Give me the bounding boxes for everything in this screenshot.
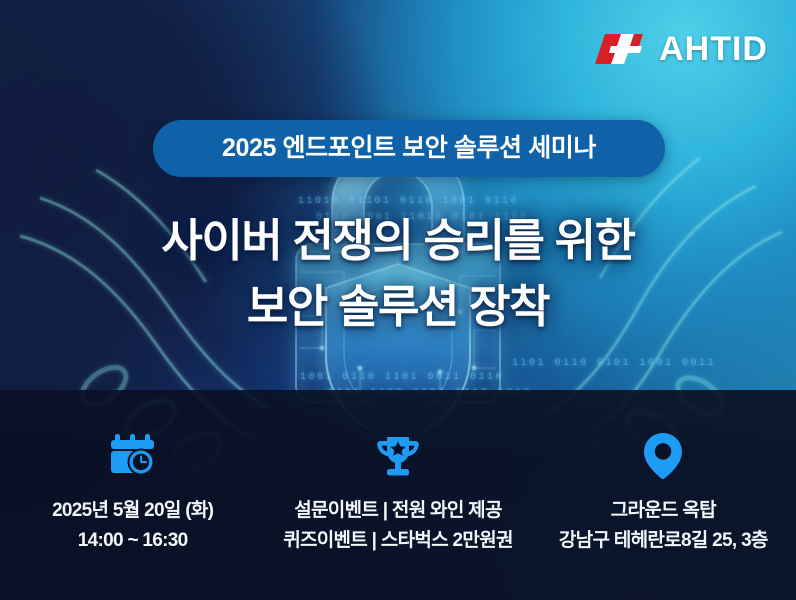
schedule-line-2: 14:00 ~ 16:30 — [78, 526, 188, 556]
seminar-title-pill: 2025 엔드포인트 보안 솔루션 세미나 — [153, 120, 665, 177]
info-column-events: 설문이벤트 | 전원 와인 제공 퀴즈이벤트 | 스타벅스 2만원권 — [265, 390, 530, 600]
headline-line-2: 보안 솔루션 장착 — [0, 274, 796, 340]
seminar-poster: 11010 01101 0110 1001 0110 0110 1001 110… — [0, 0, 796, 600]
headline-block: 사이버 전쟁의 승리를 위한 보안 솔루션 장착 — [0, 208, 796, 340]
calendar-clock-icon — [108, 430, 158, 482]
info-column-schedule: 2025년 5월 20일 (화) 14:00 ~ 16:30 — [0, 390, 265, 600]
events-line-1: 설문이벤트 | 전원 와인 제공 — [294, 496, 502, 526]
location-pin-icon — [643, 430, 683, 482]
footer-info-bar: 2025년 5월 20일 (화) 14:00 ~ 16:30 설문이벤트 | 전… — [0, 390, 796, 600]
brand-wordmark: AHTID — [659, 32, 768, 66]
schedule-line-1: 2025년 5월 20일 (화) — [52, 496, 213, 526]
ahtid-arrow-mark-icon — [590, 30, 652, 68]
info-column-venue: 그라운드 옥탑 강남구 테헤란로8길 25, 3층 — [531, 390, 796, 600]
events-line-2: 퀴즈이벤트 | 스타벅스 2만원권 — [283, 526, 513, 556]
brand-logo: AHTID — [590, 30, 768, 68]
trophy-star-icon — [374, 430, 422, 482]
seminar-title-text: 2025 엔드포인트 보안 솔루션 세미나 — [222, 136, 596, 161]
venue-line-1: 그라운드 옥탑 — [611, 496, 716, 526]
headline-line-1: 사이버 전쟁의 승리를 위한 — [0, 208, 796, 274]
venue-line-2: 강남구 테헤란로8길 25, 3층 — [559, 526, 768, 556]
